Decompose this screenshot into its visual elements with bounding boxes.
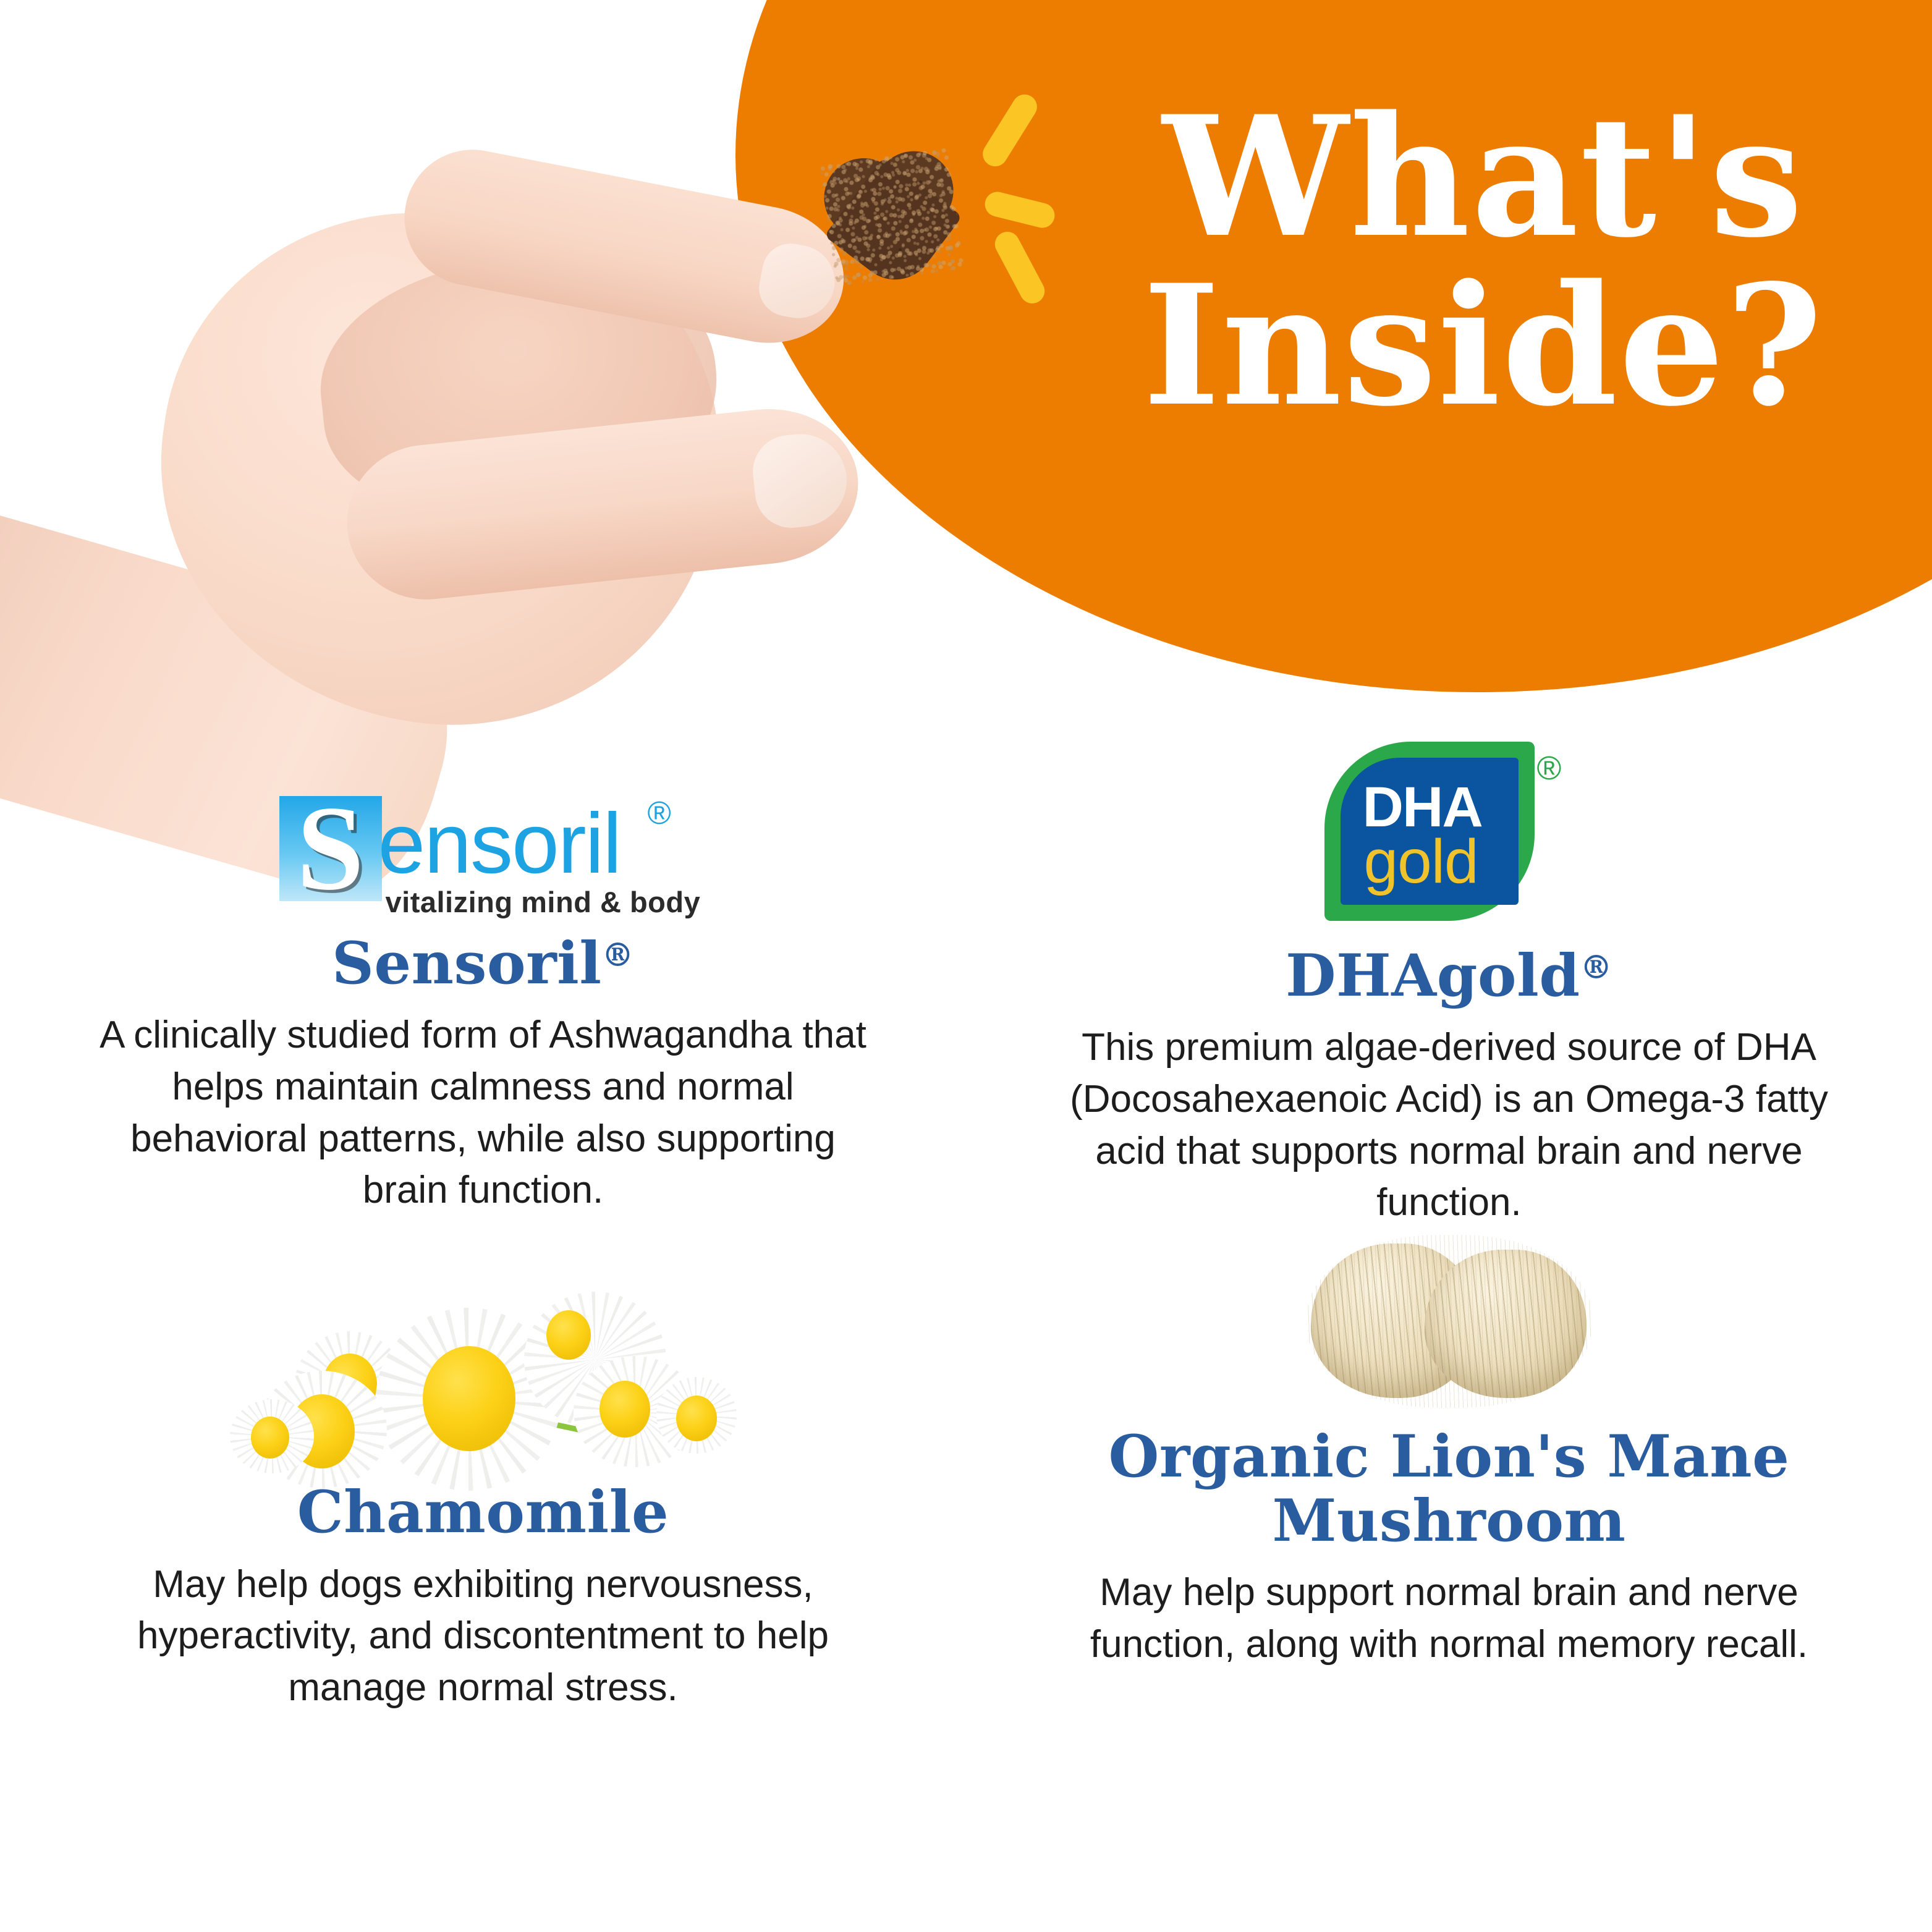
ingredient-grid: S ensoril ® vitalizing mind & body Senso… [0, 735, 1932, 1714]
chamomile-flower-disc [600, 1381, 650, 1438]
card-body-sensoril: A clinically studied form of Ashwagandha… [91, 1009, 876, 1216]
card-body-chamomile: May help dogs exhibiting nervousness, hy… [91, 1559, 876, 1714]
ingredient-card-dhagold: DHA gold ® DHAgold® This premium algae-d… [966, 735, 1932, 1229]
sensoril-logo-letter: S [279, 796, 382, 901]
lions-mane-mushroom-image [1307, 1235, 1591, 1408]
ingredient-card-chamomile: Chamomile May help dogs exhibiting nervo… [0, 1229, 966, 1713]
card-title-text: Sensoril [332, 930, 602, 998]
sensoril-logo-registered-icon: ® [648, 795, 671, 832]
card-title-chamomile: Chamomile [297, 1481, 669, 1544]
card-title-text: DHAgold [1286, 942, 1580, 1010]
chamomile-flower-disc [546, 1310, 591, 1360]
card-body-dhagold: This premium algae-derived source of DHA… [1057, 1022, 1842, 1229]
card-title-dhagold: DHAgold® [1286, 944, 1612, 1008]
hero-banner: What's Inside? [0, 0, 1932, 717]
thumbnail [749, 430, 851, 532]
dhagold-brand-logo: DHA gold ® [1320, 742, 1579, 927]
page-title-line-2: Inside? [1088, 261, 1879, 430]
dhagold-logo-line-2: gold [1364, 831, 1478, 892]
card-title-text: Organic Lion's Mane Mushroom [1109, 1423, 1790, 1554]
ingredient-card-lions-mane: Organic Lion's Mane Mushroom May help su… [966, 1229, 1932, 1713]
card-body-lions-mane: May help support normal brain and nerve … [1057, 1567, 1842, 1670]
page-title-line-1: What's [1163, 80, 1804, 274]
chamomile-flowers-image [230, 1278, 737, 1464]
chamomile-flower-disc [676, 1396, 717, 1441]
page-title: What's Inside? [1088, 93, 1879, 431]
heart-treat-icon [819, 146, 965, 286]
ingredient-card-sensoril: S ensoril ® vitalizing mind & body Senso… [0, 735, 966, 1229]
sensoril-logo-word: ensoril [378, 801, 621, 886]
chamomile-flower-disc [251, 1417, 289, 1459]
hand-holding-treat-image [0, 56, 939, 797]
sensoril-brand-logo: S ensoril ® vitalizing mind & body [279, 791, 687, 915]
card-title-lions-mane: Organic Lion's Mane Mushroom [1040, 1425, 1858, 1553]
mushroom-lobe-right [1425, 1250, 1587, 1398]
registered-icon: ® [602, 936, 635, 974]
card-title-sensoril: Sensoril® [332, 932, 634, 996]
chamomile-flower-disc [423, 1346, 515, 1451]
dhagold-logo-registered-icon: ® [1537, 752, 1562, 785]
registered-icon: ® [1580, 949, 1613, 986]
sensoril-logo-tagline: vitalizing mind & body [386, 885, 701, 919]
index-fingernail [754, 239, 841, 324]
